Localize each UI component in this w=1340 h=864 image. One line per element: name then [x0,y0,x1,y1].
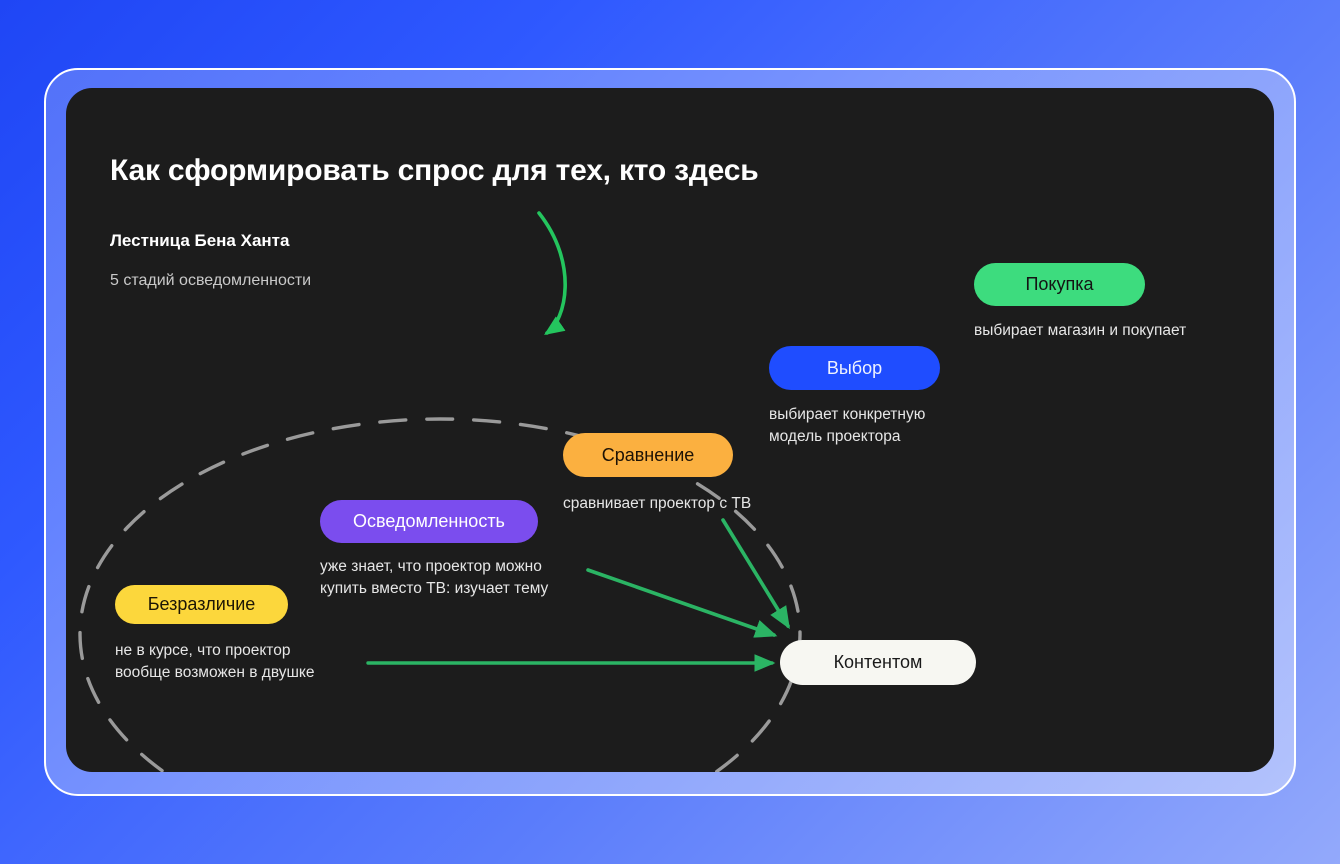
arrow-awareness-to-target [588,570,774,635]
subtitle-sub: 5 стадий осведомленности [110,272,311,290]
stage-label-choice: Выбор [827,358,882,379]
stage-caption-awareness: уже знает, что проектор можно купить вме… [320,556,548,600]
subtitle-main: Лестница Бена Ханта [110,231,289,251]
stage-caption-choice: выбирает конкретную модель проектора [769,404,925,448]
stage-label-comparison: Сравнение [602,445,695,466]
stage-caption-indifference: не в курсе, что проектор вообще возможен… [115,640,315,684]
slide-panel: Как сформировать спрос для тех, кто здес… [66,88,1274,772]
slide-canvas: Как сформировать спрос для тех, кто здес… [0,0,1340,864]
stage-pill-choice[interactable]: Выбор [769,346,940,390]
curved-pointer-arrow [539,213,565,333]
stage-label-purchase: Покупка [1025,274,1093,295]
arrow-comparison-to-target [723,520,788,626]
stage-label-awareness: Осведомленность [353,511,505,532]
stage-pill-purchase[interactable]: Покупка [974,263,1145,306]
target-label: Контентом [834,652,923,673]
target-pill-content[interactable]: Контентом [780,640,976,685]
stage-label-indifference: Безразличие [148,594,256,615]
stage-pill-indifference[interactable]: Безразличие [115,585,288,624]
stage-caption-comparison: сравнивает проектор с ТВ [563,493,751,515]
page-title: Как сформировать спрос для тех, кто здес… [110,154,759,188]
stage-pill-awareness[interactable]: Осведомленность [320,500,538,543]
stage-pill-comparison[interactable]: Сравнение [563,433,733,477]
stage-caption-purchase: выбирает магазин и покупает [974,320,1186,342]
